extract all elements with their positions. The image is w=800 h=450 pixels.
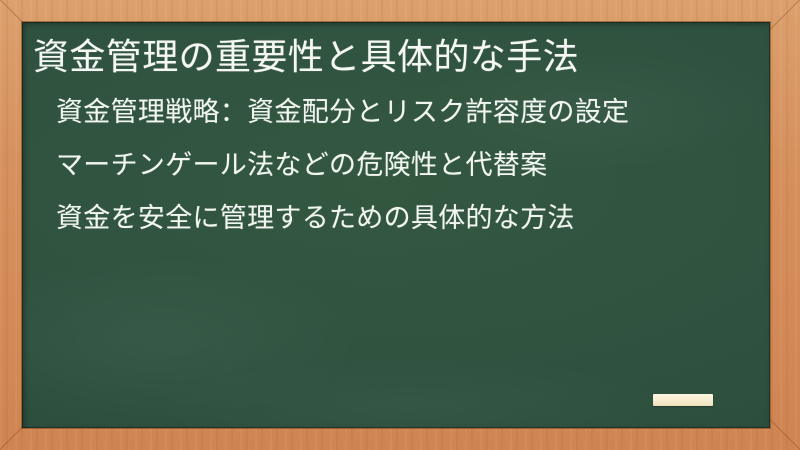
blackboard-surface: 資金管理の重要性と具体的な手法 資金管理戦略：資金配分とリスク許容度の設定 マー… [22,22,770,428]
chalk-stick-icon [653,394,713,406]
bullet-item-3: 資金を安全に管理するための具体的な方法 [56,205,754,232]
slide-title: 資金管理の重要性と具体的な手法 [33,34,754,82]
bullet-item-1: 資金管理戦略：資金配分とリスク許容度の設定 [56,99,754,126]
blackboard-slide: 資金管理の重要性と具体的な手法 資金管理戦略：資金配分とリスク許容度の設定 マー… [0,0,800,450]
bullet-list: 資金管理戦略：資金配分とリスク許容度の設定 マーチンゲール法などの危険性と代替案… [33,99,754,232]
slide-content: 資金管理の重要性と具体的な手法 資金管理戦略：資金配分とリスク許容度の設定 マー… [22,22,770,258]
bullet-item-2: マーチンゲール法などの危険性と代替案 [56,152,754,179]
